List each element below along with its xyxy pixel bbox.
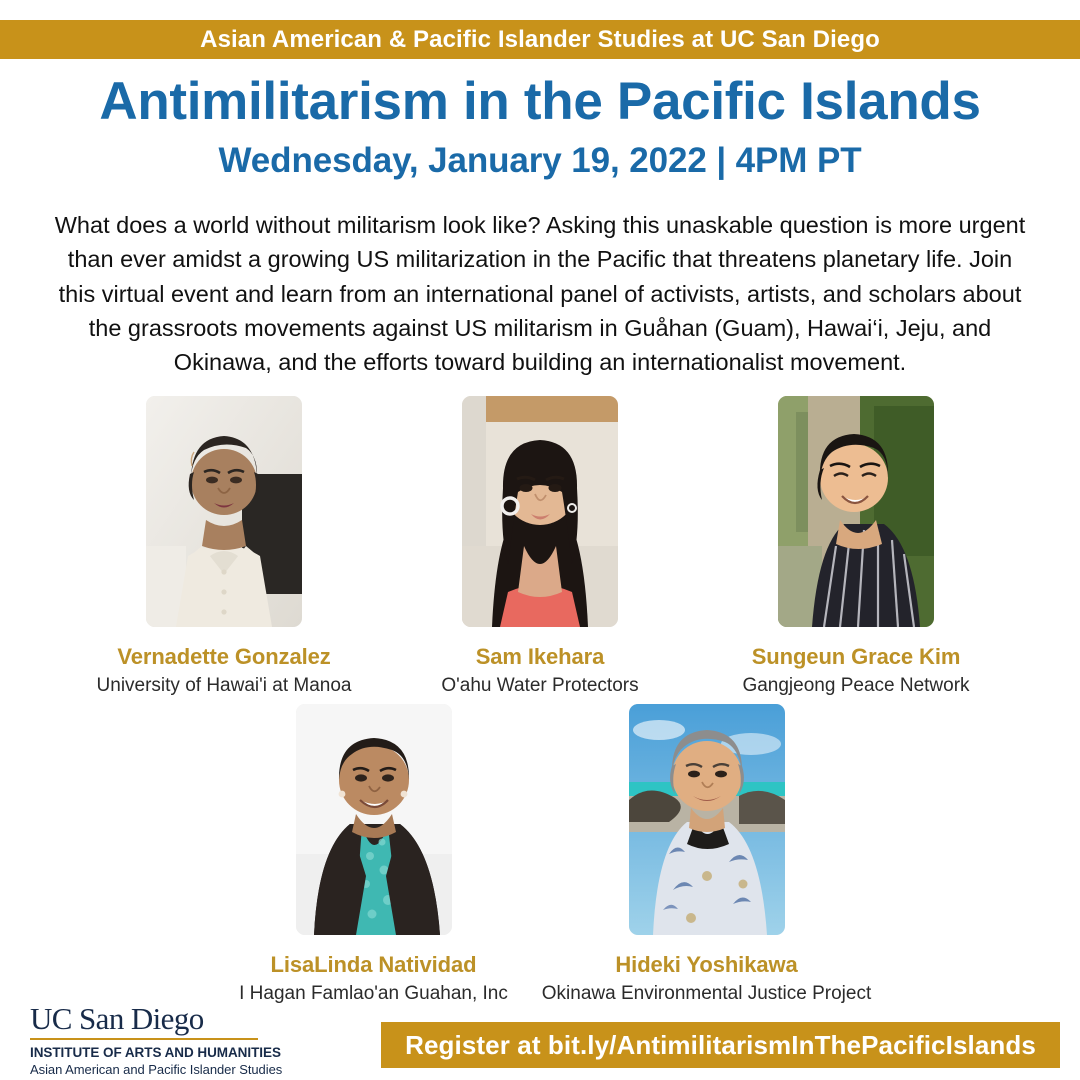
speaker-affiliation: Okinawa Environmental Justice Project [542,983,871,1005]
portrait-sungeun-grace-kim [778,396,934,627]
register-button[interactable]: Register at bit.ly/AntimilitarismInThePa… [381,1022,1060,1068]
ucsd-wordmark: UC San Diego [30,1003,280,1034]
register-button-label: Register at bit.ly/AntimilitarismInThePa… [405,1030,1036,1061]
speaker-card: Hideki Yoshikawa Okinawa Environmental J… [629,704,785,1005]
speaker-card: Sungeun Grace Kim Gangjeong Peace Networ… [778,396,934,697]
logo-institute-line: INSTITUTE OF ARTS AND HUMANITIES [30,1045,280,1062]
speaker-affiliation: O'ahu Water Protectors [441,675,638,697]
speaker-name: LisaLinda Natividad [271,952,477,978]
speaker-name: Sam Ikehara [476,644,605,670]
portrait-hideki-yoshikawa [629,704,785,935]
ucsd-logo: UC San Diego INSTITUTE OF ARTS AND HUMAN… [30,1003,280,1079]
description-line: Okinawa, and the efforts toward building… [28,345,1052,379]
speaker-card: LisaLinda Natividad I Hagan Famlao'an Gu… [296,704,452,1005]
speaker-affiliation: Gangjeong Peace Network [742,675,969,697]
description-line: What does a world without militarism loo… [28,208,1052,242]
title-block: Antimilitarism in the Pacific Islands We… [0,72,1080,182]
speaker-name: Sungeun Grace Kim [752,644,961,670]
portrait-lisalinda-natividad [296,704,452,935]
speaker-card: Sam Ikehara O'ahu Water Protectors [462,396,618,697]
event-description: What does a world without militarism loo… [28,208,1052,379]
logo-department-line: Asian American and Pacific Islander Stud… [30,1062,280,1079]
page-title: Antimilitarism in the Pacific Islands [0,72,1080,131]
speaker-affiliation: University of Hawai'i at Manoa [97,675,352,697]
portrait-sam-ikehara [462,396,618,627]
speaker-name: Vernadette Gonzalez [117,644,330,670]
logo-divider [30,1038,258,1040]
speaker-affiliation: I Hagan Famlao'an Guahan, Inc [239,983,508,1005]
speaker-row-2: LisaLinda Natividad I Hagan Famlao'an Gu… [0,704,1080,1005]
event-datetime: Wednesday, January 19, 2022 | 4PM PT [0,140,1080,182]
header-banner-text: Asian American & Pacific Islander Studie… [200,26,880,54]
description-line: this virtual event and learn from an int… [28,277,1052,311]
speaker-card: Vernadette Gonzalez University of Hawai'… [146,396,302,697]
description-line: than ever amidst a growing US militariza… [28,242,1052,276]
portrait-vernadette-gonzalez [146,396,302,627]
description-line: the grassroots movements against US mili… [28,311,1052,345]
header-banner: Asian American & Pacific Islander Studie… [0,20,1080,59]
speaker-name: Hideki Yoshikawa [615,952,797,978]
speaker-row-1: Vernadette Gonzalez University of Hawai'… [0,396,1080,697]
